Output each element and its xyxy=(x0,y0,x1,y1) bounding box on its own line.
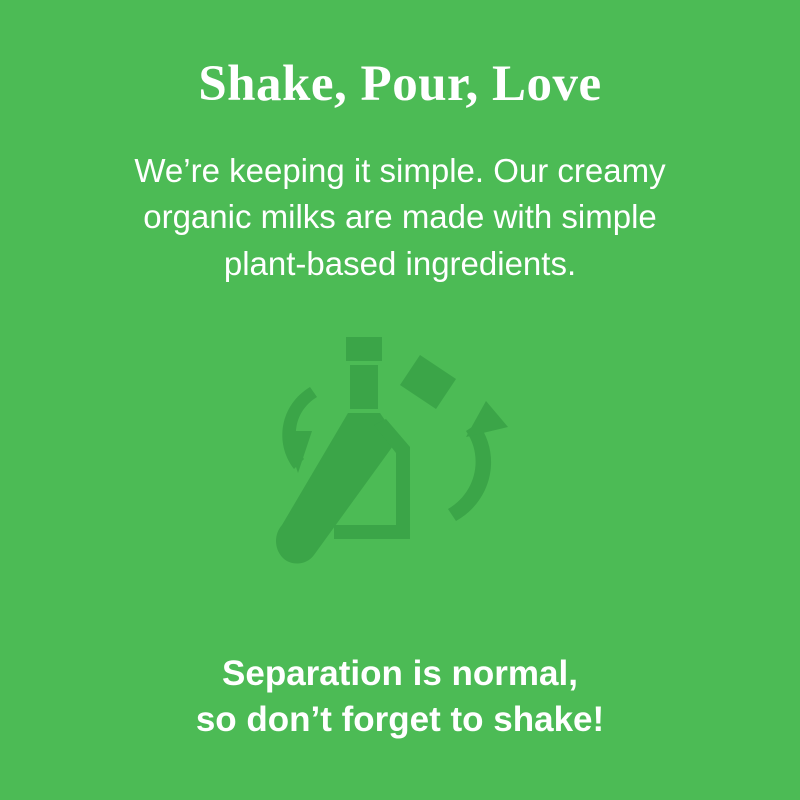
page-title: Shake, Pour, Love xyxy=(198,58,601,112)
shake-bottle-icon xyxy=(250,322,550,582)
subheading-text: We’re keeping it simple. Our creamy orga… xyxy=(50,148,750,289)
promo-card: Shake, Pour, Love We’re keeping it simpl… xyxy=(0,0,800,800)
subheading-line-2: organic milks are made with simple xyxy=(50,194,750,241)
footer-line-2: so don’t forget to shake! xyxy=(0,697,800,743)
subheading-line-3: plant-based ingredients. xyxy=(50,241,750,288)
subheading-line-1: We’re keeping it simple. Our creamy xyxy=(50,148,750,195)
footer-line-1: Separation is normal, xyxy=(0,651,800,697)
footer-text: Separation is normal, so don’t forget to… xyxy=(0,651,800,742)
